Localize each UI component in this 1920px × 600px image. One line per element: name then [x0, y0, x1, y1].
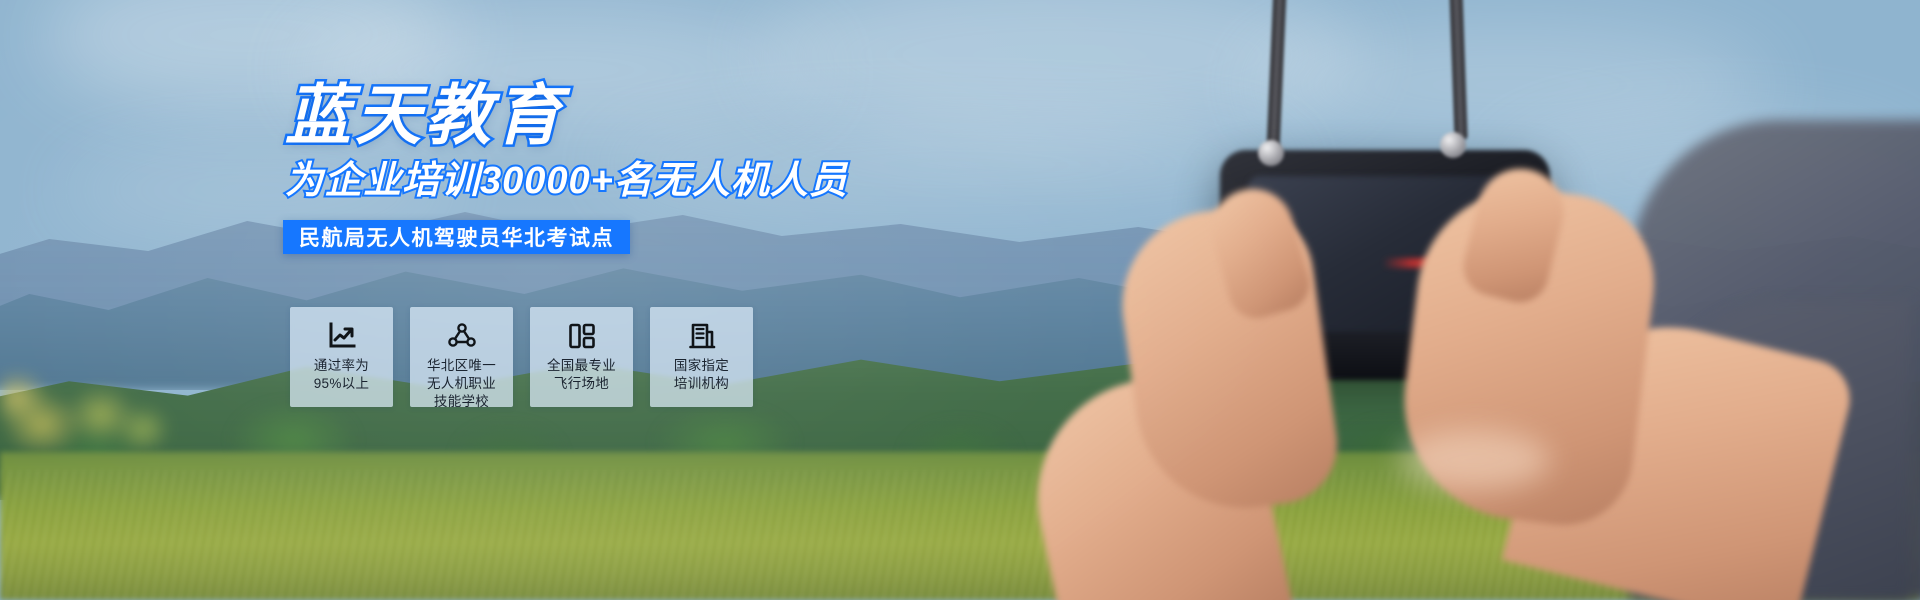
exam-center-badge: 民航局无人机驾驶员华北考试点 — [283, 220, 630, 254]
feature-card-label: 华北区唯一 无人机职业 技能学校 — [427, 357, 496, 411]
feature-card-label: 全国最专业 飞行场地 — [547, 357, 616, 393]
feature-card-vocational-school[interactable]: 华北区唯一 无人机职业 技能学校 — [410, 307, 513, 407]
feature-card-flight-field[interactable]: 全国最专业 飞行场地 — [530, 307, 633, 407]
banner-subheadline: 为企业培训30000+名无人机人员 — [285, 162, 848, 200]
layout-panels-icon — [567, 321, 597, 351]
feature-card-list: 通过率为 95%以上 华北区唯一 无人机职业 技能学校 — [290, 307, 753, 407]
hero-banner: 蓝天教育 为企业培训30000+名无人机人员 民航局无人机驾驶员华北考试点 通过… — [0, 0, 1920, 600]
feature-card-label: 国家指定 培训机构 — [674, 357, 729, 393]
banner-content: 蓝天教育 为企业培训30000+名无人机人员 民航局无人机驾驶员华北考试点 通过… — [0, 0, 1920, 600]
chart-line-up-icon — [327, 321, 357, 351]
banner-headline: 蓝天教育 — [285, 82, 565, 148]
building-icon — [687, 321, 717, 351]
feature-card-pass-rate[interactable]: 通过率为 95%以上 — [290, 307, 393, 407]
network-nodes-icon — [447, 321, 477, 351]
feature-card-national-institution[interactable]: 国家指定 培训机构 — [650, 307, 753, 407]
feature-card-label: 通过率为 95%以上 — [314, 357, 370, 393]
